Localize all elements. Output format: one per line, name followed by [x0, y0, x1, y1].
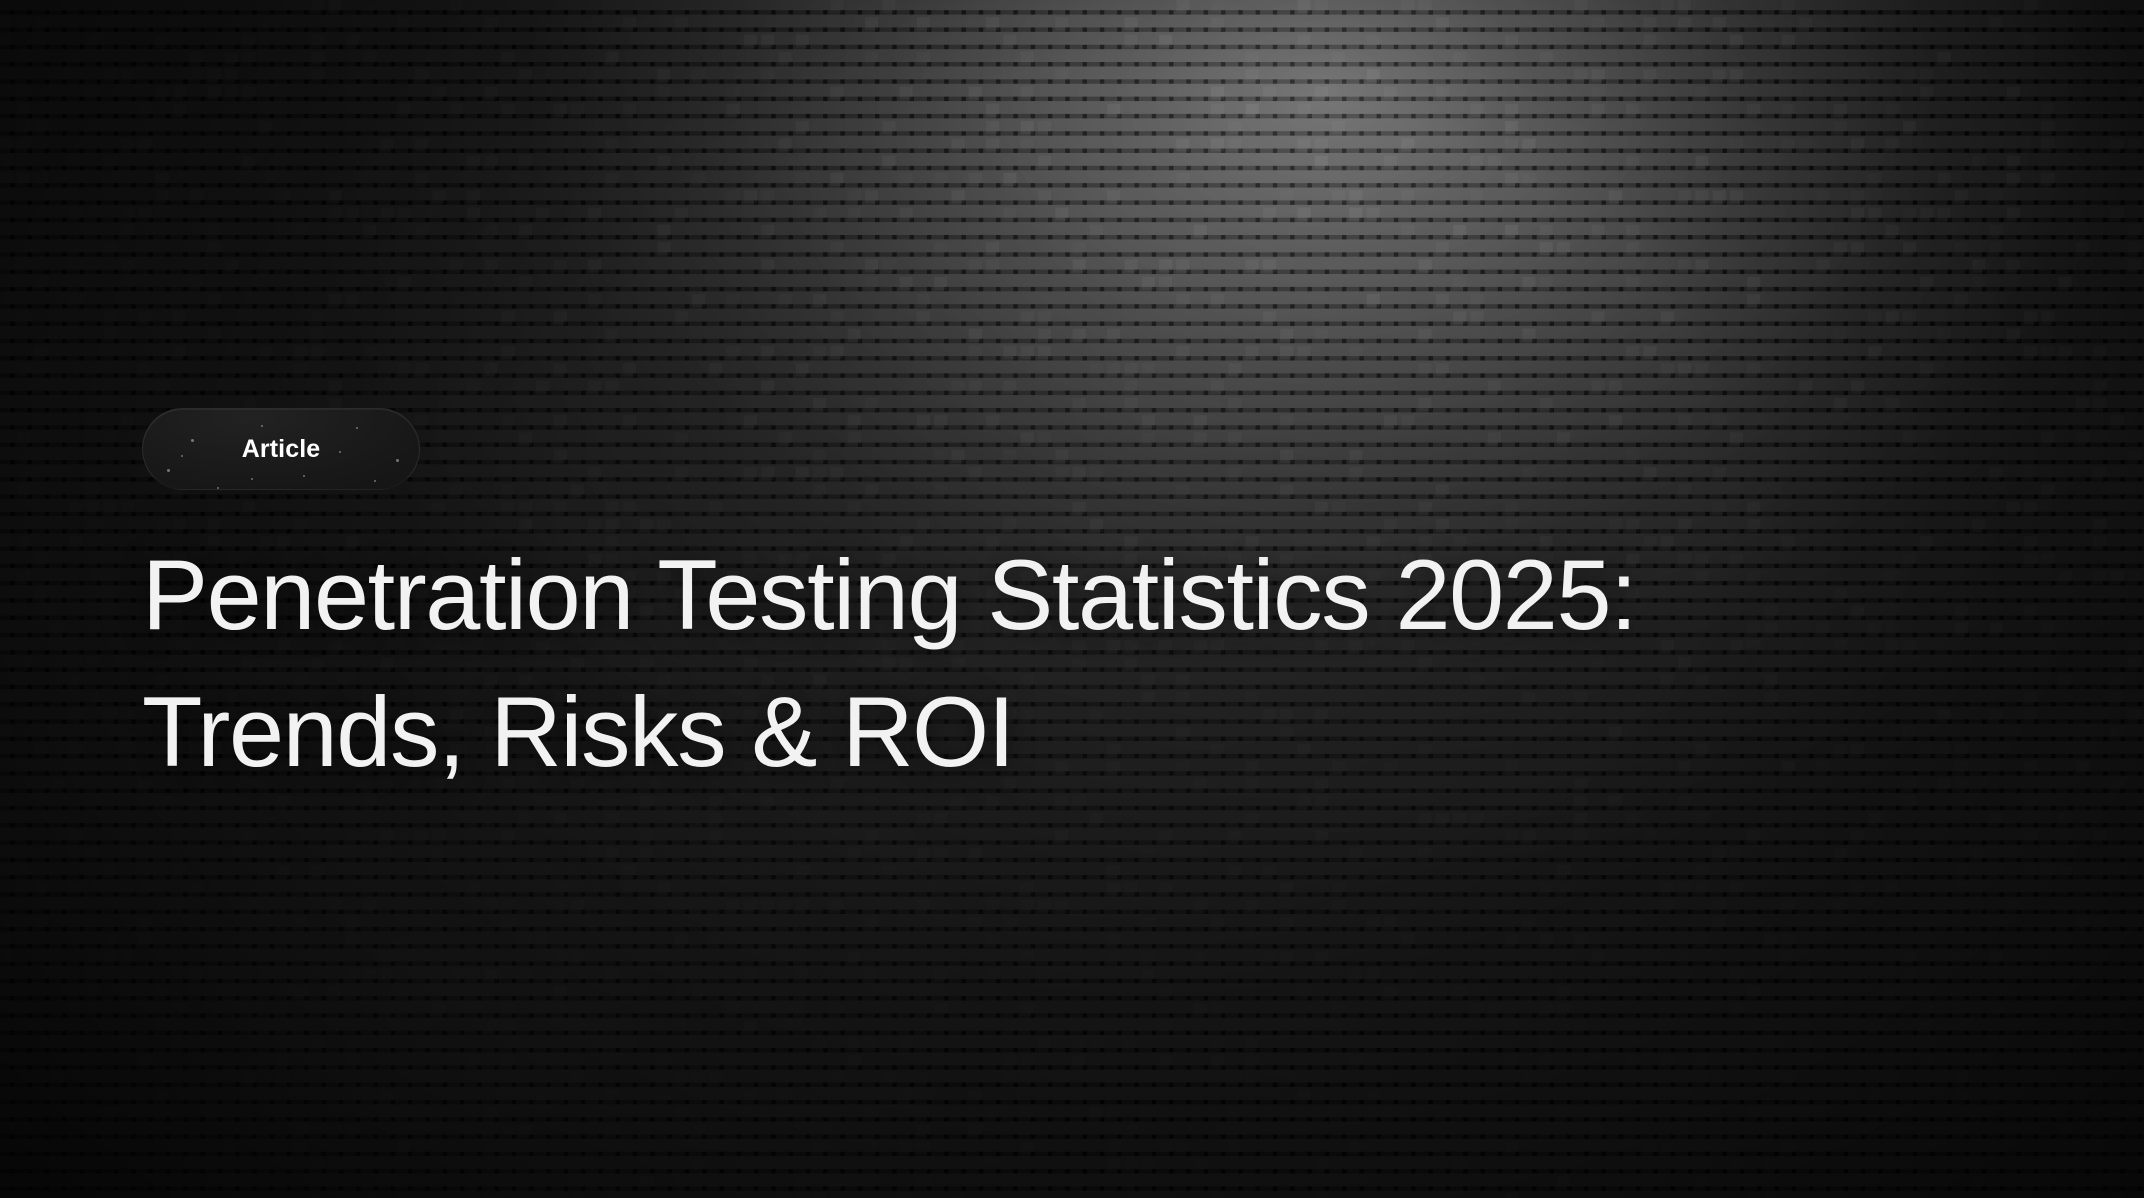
- article-category-badge[interactable]: Article: [142, 408, 420, 490]
- article-category-badge-label: Article: [242, 437, 321, 462]
- page-title-line-1: Penetration Testing Statistics 2025:: [142, 526, 1862, 663]
- page-title: Penetration Testing Statistics 2025: Tre…: [142, 526, 1862, 800]
- article-hero-banner: Article Penetration Testing Statistics 2…: [0, 0, 2144, 1198]
- hero-content: Article Penetration Testing Statistics 2…: [142, 408, 1992, 800]
- page-title-line-2: Trends, Risks & ROI: [142, 663, 1862, 800]
